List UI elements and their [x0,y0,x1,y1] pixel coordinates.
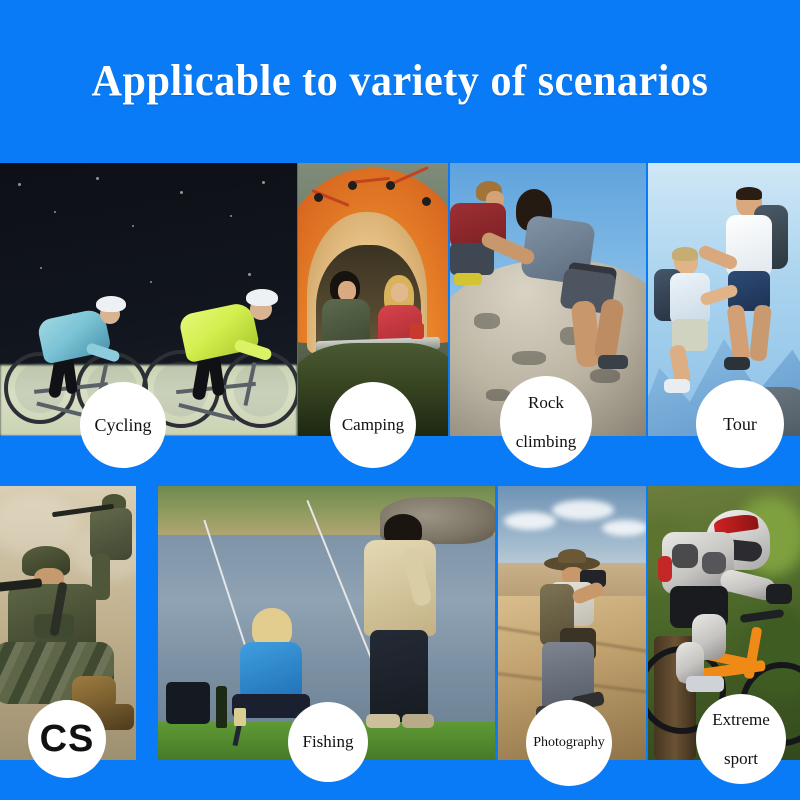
hiker-woman [656,249,728,399]
badge-cs-label: CS [36,718,99,761]
hiker-leg [749,304,772,361]
snow-speck [230,215,232,217]
hiking-boot [664,379,690,393]
badge-fishing-label: Fishing [298,732,357,751]
badge-cycling-label: Cycling [91,415,156,435]
angler-jacket [240,642,302,702]
badge-tour[interactable]: Tour [696,380,784,468]
hat-crown [558,549,586,563]
rock-texture-speck [474,313,500,329]
page-title: Applicable to variety of scenarios [16,52,784,110]
cyclist-helmet [246,289,278,306]
camper-face [338,281,356,301]
glove [766,584,792,604]
badge-photography[interactable]: Photography [526,700,612,786]
snow-speck [54,211,56,213]
badge-camping[interactable]: Camping [330,382,416,468]
badge-rock-climbing-label: Rock climbing [508,393,584,450]
tent-clip [386,181,395,190]
armor-accent [658,556,672,582]
angler-trousers [370,630,428,722]
cup [234,708,246,726]
camp-cup [410,323,424,339]
cyclist-helmet [96,296,126,312]
climber-shoe [598,355,628,369]
snow-speck [40,267,42,269]
tackle-bag [166,682,210,724]
photographer [528,556,620,722]
cloud [602,520,646,536]
snow-speck [180,191,183,194]
climber-shoe [454,273,482,285]
bottle [216,686,227,728]
tent-clip [422,197,431,206]
badge-extreme-sport[interactable]: Extreme sport [696,694,786,784]
snow-speck [96,177,99,180]
camper-face [391,283,408,302]
badge-cycling[interactable]: Cycling [80,382,166,468]
badge-photography-label: Photography [529,735,609,751]
snow-speck [132,225,134,227]
rock-texture-speck [590,369,620,383]
badge-extreme-sport-label: Extreme sport [704,710,778,767]
cyclist-right [142,268,294,428]
shoe [402,714,434,728]
promo-banner: Applicable to variety of scenarios [0,0,800,800]
cloud [552,500,614,520]
tent-clip [348,181,357,190]
bike-shoe [686,676,724,692]
badge-camping-label: Camping [338,415,408,434]
cloud [504,512,556,530]
camper-jacket [322,299,370,345]
badge-tour-label: Tour [719,414,761,434]
badge-rock-climbing[interactable]: Rock climbing [500,376,592,468]
rider-extreme [658,510,790,682]
armor-plate [672,544,698,568]
hiker-hair [672,247,698,261]
armor-plate [702,552,726,574]
badge-cs[interactable]: CS [28,700,106,778]
badge-fishing[interactable]: Fishing [288,702,368,782]
hiker-hair [736,187,762,200]
climber-main [502,189,638,369]
tent-clip [314,193,323,202]
snow-speck [262,181,265,184]
hiker-leg [727,304,751,364]
angler-standing [360,514,452,730]
snow-speck [18,183,21,186]
shoe [366,714,400,728]
